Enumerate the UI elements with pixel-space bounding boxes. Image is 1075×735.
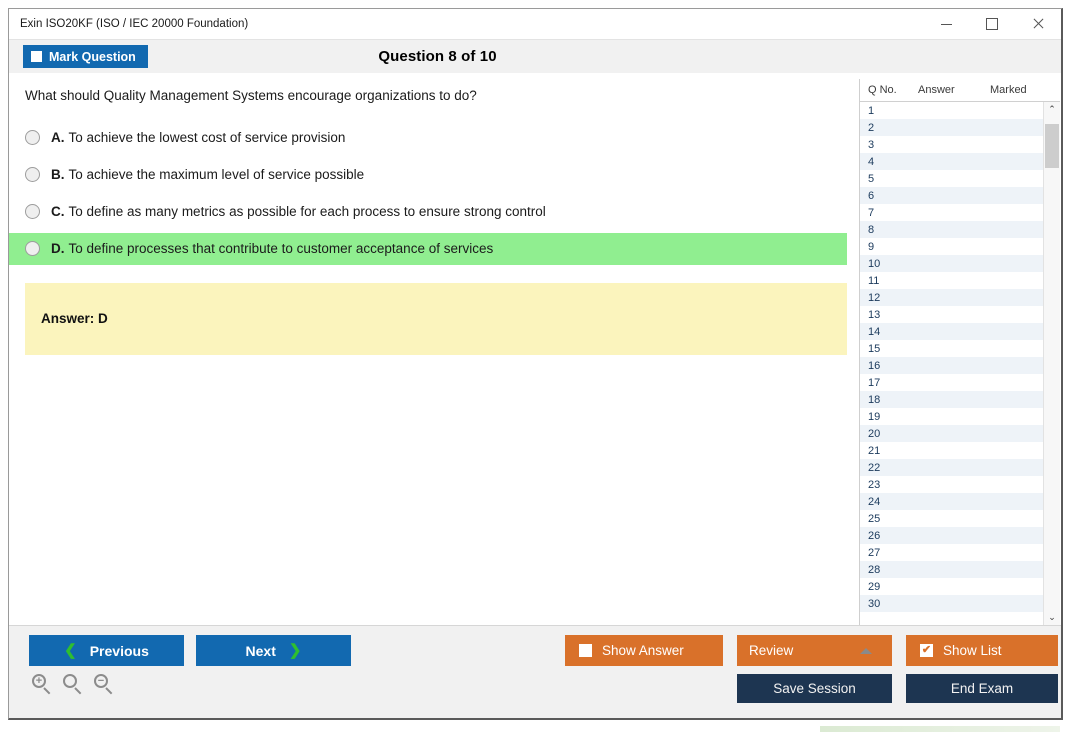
answer-option-a[interactable]: A.To achieve the lowest cost of service … [9, 122, 847, 154]
row-question-number: 30 [860, 598, 914, 610]
question-list-panel: Q No. Answer Marked 12345678910111213141… [859, 79, 1060, 625]
question-list-row[interactable]: 2 [860, 119, 1043, 136]
zoom-controls: + − [31, 673, 115, 695]
show-answer-button[interactable]: Show Answer [565, 635, 723, 666]
end-exam-button[interactable]: End Exam [906, 674, 1058, 703]
option-text: To define processes that contribute to c… [69, 241, 494, 256]
option-letter: A. [51, 130, 65, 145]
question-list-row[interactable]: 13 [860, 306, 1043, 323]
radio-button-icon[interactable] [25, 167, 40, 182]
close-button[interactable] [1015, 9, 1061, 39]
minimize-icon [941, 24, 952, 25]
show-answer-checkbox-icon [579, 644, 592, 657]
question-list-row[interactable]: 29 [860, 578, 1043, 595]
app-root: Exin ISO20KF (ISO / IEC 20000 Foundation… [0, 0, 1075, 735]
question-list-row[interactable]: 10 [860, 255, 1043, 272]
question-list-row[interactable]: 20 [860, 425, 1043, 442]
screen-edge-tint [820, 726, 1060, 732]
zoom-reset-icon[interactable] [62, 673, 84, 695]
answer-reveal-box: Answer: D [25, 283, 847, 355]
exam-header-bar: Mark Question Question 8 of 10 [9, 40, 1061, 73]
question-list-row[interactable]: 12 [860, 289, 1043, 306]
row-question-number: 22 [860, 462, 914, 474]
row-question-number: 13 [860, 309, 914, 321]
chevron-up-icon [860, 648, 872, 654]
row-question-number: 26 [860, 530, 914, 542]
answer-option-c[interactable]: C.To define as many metrics as possible … [9, 196, 847, 228]
row-question-number: 17 [860, 377, 914, 389]
row-question-number: 14 [860, 326, 914, 338]
question-list-row[interactable]: 11 [860, 272, 1043, 289]
question-list-row[interactable]: 19 [860, 408, 1043, 425]
question-list-row[interactable]: 30 [860, 595, 1043, 612]
question-list-row[interactable]: 1 [860, 102, 1043, 119]
scrollbar-thumb[interactable] [1045, 124, 1059, 168]
answer-options-list: A.To achieve the lowest cost of service … [9, 122, 859, 265]
maximize-button[interactable] [969, 9, 1015, 39]
maximize-icon [986, 18, 998, 30]
question-list-row[interactable]: 18 [860, 391, 1043, 408]
window-controls [923, 9, 1061, 39]
show-list-button[interactable]: ✔ Show List [906, 635, 1058, 666]
option-text: To define as many metrics as possible fo… [69, 204, 546, 219]
row-question-number: 23 [860, 479, 914, 491]
show-answer-label: Show Answer [602, 643, 684, 658]
question-list-row[interactable]: 22 [860, 459, 1043, 476]
row-question-number: 21 [860, 445, 914, 457]
show-list-checkbox-icon: ✔ [920, 644, 933, 657]
row-question-number: 28 [860, 564, 914, 576]
question-list-row[interactable]: 15 [860, 340, 1043, 357]
close-icon [1032, 18, 1044, 30]
column-header-marked: Marked [990, 84, 1060, 96]
previous-button[interactable]: ❮ Previous [29, 635, 184, 666]
row-question-number: 20 [860, 428, 914, 440]
answer-reveal-text: Answer: D [41, 311, 108, 326]
row-question-number: 2 [860, 122, 914, 134]
option-letter: C. [51, 204, 65, 219]
question-list-scrollbar[interactable]: ⌃ ⌄ [1043, 102, 1060, 625]
row-question-number: 8 [860, 224, 914, 236]
show-list-label: Show List [943, 643, 1002, 658]
next-label: Next [246, 643, 276, 659]
question-list-row[interactable]: 3 [860, 136, 1043, 153]
row-question-number: 6 [860, 190, 914, 202]
previous-label: Previous [90, 643, 149, 659]
end-exam-label: End Exam [951, 681, 1013, 696]
question-list-row[interactable]: 25 [860, 510, 1043, 527]
row-question-number: 4 [860, 156, 914, 168]
mark-question-label: Mark Question [49, 50, 136, 64]
zoom-reset-sign [62, 673, 78, 689]
row-question-number: 3 [860, 139, 914, 151]
question-text: What should Quality Management Systems e… [9, 73, 859, 106]
question-list-row[interactable]: 17 [860, 374, 1043, 391]
question-list-rows: 1234567891011121314151617181920212223242… [860, 102, 1043, 625]
row-question-number: 9 [860, 241, 914, 253]
scroll-down-icon[interactable]: ⌄ [1044, 610, 1060, 625]
chevron-left-icon: ❮ [64, 643, 77, 658]
chevron-right-icon: ❯ [289, 643, 302, 658]
row-question-number: 29 [860, 581, 914, 593]
question-list-row[interactable]: 27 [860, 544, 1043, 561]
radio-button-icon[interactable] [25, 130, 40, 145]
question-list-row[interactable]: 4 [860, 153, 1043, 170]
row-question-number: 27 [860, 547, 914, 559]
row-question-number: 18 [860, 394, 914, 406]
row-question-number: 15 [860, 343, 914, 355]
answer-option-b[interactable]: B.To achieve the maximum level of servic… [9, 159, 847, 191]
next-button[interactable]: Next ❯ [196, 635, 351, 666]
radio-button-icon[interactable] [25, 241, 40, 256]
option-letter: B. [51, 167, 65, 182]
question-list-row[interactable]: 14 [860, 323, 1043, 340]
question-list-row[interactable]: 9 [860, 238, 1043, 255]
review-dropdown-button[interactable]: Review [737, 635, 892, 666]
row-question-number: 16 [860, 360, 914, 372]
save-session-label: Save Session [773, 681, 856, 696]
question-list-row[interactable]: 5 [860, 170, 1043, 187]
row-question-number: 7 [860, 207, 914, 219]
review-label: Review [749, 643, 793, 658]
question-list-row[interactable]: 7 [860, 204, 1043, 221]
row-question-number: 24 [860, 496, 914, 508]
question-list-row[interactable]: 24 [860, 493, 1043, 510]
row-question-number: 19 [860, 411, 914, 423]
window-titlebar: Exin ISO20KF (ISO / IEC 20000 Foundation… [9, 9, 1061, 40]
option-letter: D. [51, 241, 65, 256]
exam-footer: ❮ Previous Next ❯ Show Answer Review ✔ S… [9, 625, 1061, 718]
answer-option-d[interactable]: D.To define processes that contribute to… [9, 233, 847, 265]
exam-body: What should Quality Management Systems e… [9, 73, 1061, 625]
question-pane: What should Quality Management Systems e… [9, 73, 859, 625]
question-list-row[interactable]: 23 [860, 476, 1043, 493]
minimize-button[interactable] [923, 9, 969, 39]
question-list-row[interactable]: 26 [860, 527, 1043, 544]
row-question-number: 25 [860, 513, 914, 525]
radio-button-icon[interactable] [25, 204, 40, 219]
row-question-number: 12 [860, 292, 914, 304]
question-list-row[interactable]: 6 [860, 187, 1043, 204]
question-counter: Question 8 of 10 [9, 48, 1061, 65]
row-question-number: 11 [860, 275, 914, 287]
question-list-body: 1234567891011121314151617181920212223242… [860, 102, 1060, 625]
question-list-header: Q No. Answer Marked [860, 79, 1060, 102]
question-list-row[interactable]: 16 [860, 357, 1043, 374]
zoom-out-sign: − [93, 673, 109, 689]
save-session-button[interactable]: Save Session [737, 674, 892, 703]
zoom-out-icon[interactable]: − [93, 673, 115, 695]
question-list-row[interactable]: 8 [860, 221, 1043, 238]
window-title: Exin ISO20KF (ISO / IEC 20000 Foundation… [9, 18, 248, 30]
option-text: To achieve the lowest cost of service pr… [69, 130, 346, 145]
zoom-in-icon[interactable]: + [31, 673, 53, 695]
zoom-in-sign: + [31, 673, 47, 689]
row-question-number: 5 [860, 173, 914, 185]
row-question-number: 1 [860, 105, 914, 117]
scroll-up-icon[interactable]: ⌃ [1044, 102, 1060, 117]
mark-question-button[interactable]: Mark Question [23, 45, 148, 68]
row-question-number: 10 [860, 258, 914, 270]
question-list-row[interactable]: 21 [860, 442, 1043, 459]
column-header-qno: Q No. [860, 84, 918, 96]
column-header-answer: Answer [918, 84, 990, 96]
question-list-row[interactable]: 28 [860, 561, 1043, 578]
mark-question-checkbox-icon [31, 51, 42, 62]
option-text: To achieve the maximum level of service … [69, 167, 365, 182]
exam-window: Exin ISO20KF (ISO / IEC 20000 Foundation… [8, 8, 1063, 720]
